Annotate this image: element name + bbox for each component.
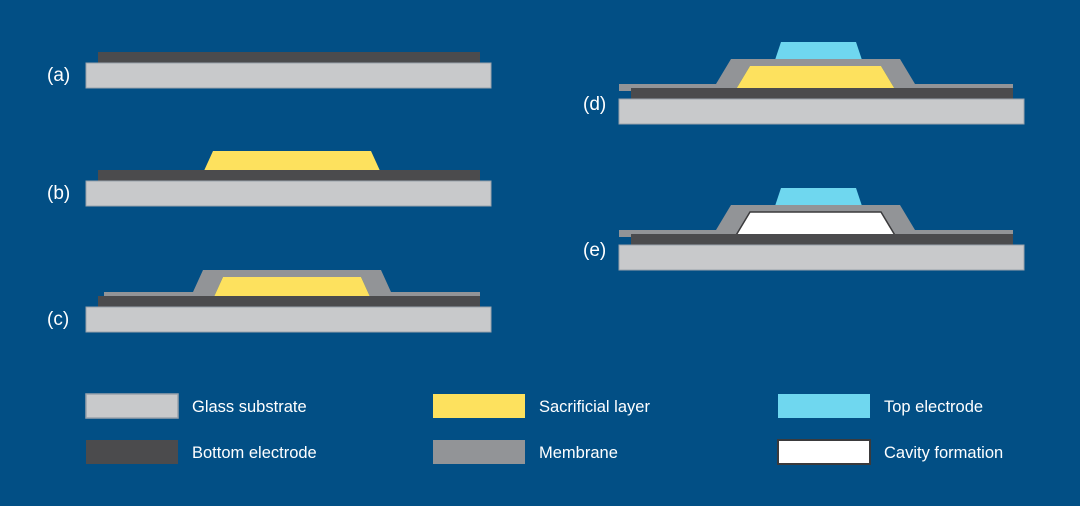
legend-label-top-electrode: Top electrode	[884, 398, 983, 416]
legend-swatch-glass-substrate	[86, 394, 178, 418]
legend-swatch-top-electrode	[778, 394, 870, 418]
legend-item-cavity-formation: Cavity formation	[778, 440, 1003, 464]
panel-c-sacrificial-layer	[213, 277, 371, 299]
panel-c-bottom-electrode	[98, 296, 480, 307]
panel-d-label: (d)	[583, 94, 606, 115]
legend-label-membrane: Membrane	[539, 444, 618, 462]
legend-swatch-cavity-formation	[778, 440, 870, 464]
panel-b-sacrificial-layer	[203, 151, 381, 173]
legend-swatch-sacrificial-layer	[433, 394, 525, 418]
legend-label-sacrificial-layer: Sacrificial layer	[539, 398, 650, 416]
legend-item-top-electrode: Top electrode	[778, 394, 983, 418]
panel-d: (d)	[583, 42, 1024, 124]
panel-e: (e)	[583, 188, 1024, 270]
legend-item-bottom-electrode: Bottom electrode	[86, 440, 317, 464]
legend-item-sacrificial-layer: Sacrificial layer	[433, 394, 650, 418]
process-flow-diagram: (a) (b) (c) (d)	[0, 0, 1080, 506]
panel-d-bottom-electrode	[631, 88, 1013, 99]
panel-e-bottom-electrode	[631, 234, 1013, 245]
panel-c-label: (c)	[47, 309, 69, 330]
legend-label-glass-substrate: Glass substrate	[192, 398, 307, 416]
figure-root: (a) (b) (c) (d)	[0, 0, 1080, 506]
panel-c-glass-substrate	[86, 307, 491, 332]
legend-swatch-membrane	[433, 440, 525, 464]
panel-d-top-electrode	[775, 42, 862, 60]
panel-b: (b)	[47, 151, 491, 206]
panel-e-top-electrode	[775, 188, 862, 206]
panel-a-label: (a)	[47, 65, 70, 86]
panel-e-cavity-formation	[735, 212, 896, 237]
legend-label-bottom-electrode: Bottom electrode	[192, 444, 317, 462]
legend-item-membrane: Membrane	[433, 440, 618, 464]
panel-a-glass-substrate	[86, 63, 491, 88]
panel-d-glass-substrate	[619, 99, 1024, 124]
panel-d-sacrificial-layer	[735, 66, 896, 91]
legend: Glass substrate Bottom electrode Sacrifi…	[86, 394, 1003, 464]
panel-b-bottom-electrode	[98, 170, 480, 181]
legend-item-glass-substrate: Glass substrate	[86, 394, 307, 418]
panel-e-label: (e)	[583, 240, 606, 261]
panel-c: (c)	[47, 270, 491, 332]
panel-a: (a)	[47, 52, 491, 88]
legend-label-cavity-formation: Cavity formation	[884, 444, 1003, 462]
legend-swatch-bottom-electrode	[86, 440, 178, 464]
panel-b-glass-substrate	[86, 181, 491, 206]
panel-a-bottom-electrode	[98, 52, 480, 63]
panel-e-glass-substrate	[619, 245, 1024, 270]
panel-b-label: (b)	[47, 183, 70, 204]
